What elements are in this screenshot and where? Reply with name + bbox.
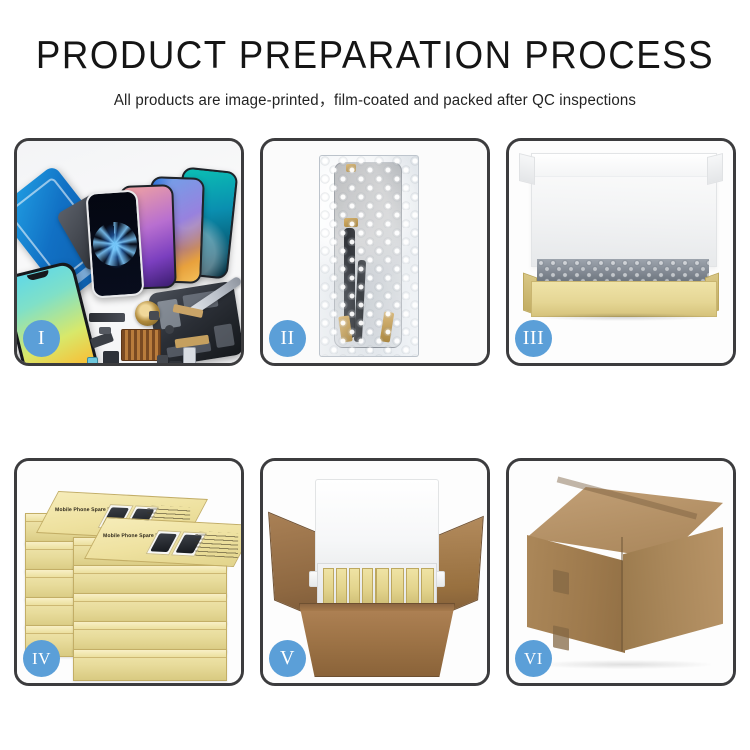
retail-box-icon	[323, 568, 334, 606]
component-icon-9	[183, 347, 196, 363]
process-step-panel-6: VI	[506, 458, 736, 686]
retail-box-icon	[406, 568, 419, 606]
retail-box-icon	[349, 568, 360, 606]
component-icon-2	[103, 351, 119, 363]
box-spec-text-block	[195, 531, 238, 558]
plastic-sheen-overlay	[320, 156, 418, 356]
retail-box-group-right	[376, 568, 434, 604]
foam-box-tray-icon	[317, 563, 437, 609]
lid-flap-left-icon	[519, 153, 535, 185]
retail-box-icon	[336, 568, 347, 606]
process-step-panel-2: II	[260, 138, 490, 366]
header: PRODUCT PREPARATION PROCESS All products…	[0, 36, 750, 110]
process-step-panel-4: Mobile Phone Spare Parts Mobile Phone Sp…	[14, 458, 244, 686]
component-icon-10	[149, 311, 159, 320]
step-badge-5: V	[269, 640, 306, 677]
step-badge-3: III	[515, 320, 552, 357]
component-icon-8	[87, 357, 98, 363]
retail-box-icon	[421, 568, 434, 606]
step-badge-6: VI	[515, 640, 552, 677]
drop-shadow	[535, 313, 711, 321]
process-step-panel-3: III	[506, 138, 736, 366]
retail-box-icon	[362, 568, 373, 606]
process-step-panel-1: I	[14, 138, 244, 366]
step-badge-4: IV	[23, 640, 60, 677]
battery-connector-icon	[89, 313, 125, 322]
white-box-lid-icon	[531, 153, 717, 267]
carton-tape-icon-2	[553, 625, 569, 650]
logic-board-icon	[121, 329, 161, 361]
process-step-panel-5: V	[260, 458, 490, 686]
bubble-wrap-bag-icon	[319, 155, 419, 357]
component-icon-11	[99, 327, 111, 334]
retail-box-icon	[376, 568, 389, 606]
printed-box-lid-icon: Mobile Phone Spare Parts	[84, 517, 241, 567]
carton-tape-icon-1	[553, 569, 569, 594]
retail-box-icon	[391, 568, 404, 606]
drop-shadow	[539, 660, 711, 669]
carton-body-icon	[299, 603, 455, 677]
component-icon-12	[165, 325, 174, 334]
yellow-box-front-icon	[531, 281, 717, 317]
phone-front-glass-icon	[85, 189, 144, 298]
process-step-grid: I II	[14, 138, 736, 694]
retail-box-stack-icon: Mobile Phone Spare Parts Mobile Phone Sp…	[23, 479, 235, 671]
retail-box-icon	[73, 649, 227, 681]
carton-corner-crease-icon	[621, 537, 623, 651]
page-subtitle: All products are image-printed，film-coat…	[11, 88, 739, 110]
component-icon-5	[157, 355, 168, 363]
component-icon-6	[169, 361, 182, 363]
step-badge-2: II	[269, 320, 306, 357]
bubble-wrap-contents-icon	[537, 259, 709, 283]
step-badge-1: I	[23, 320, 60, 357]
page-title: PRODUCT PREPARATION PROCESS	[23, 36, 728, 77]
lid-flap-right-icon	[707, 153, 723, 185]
